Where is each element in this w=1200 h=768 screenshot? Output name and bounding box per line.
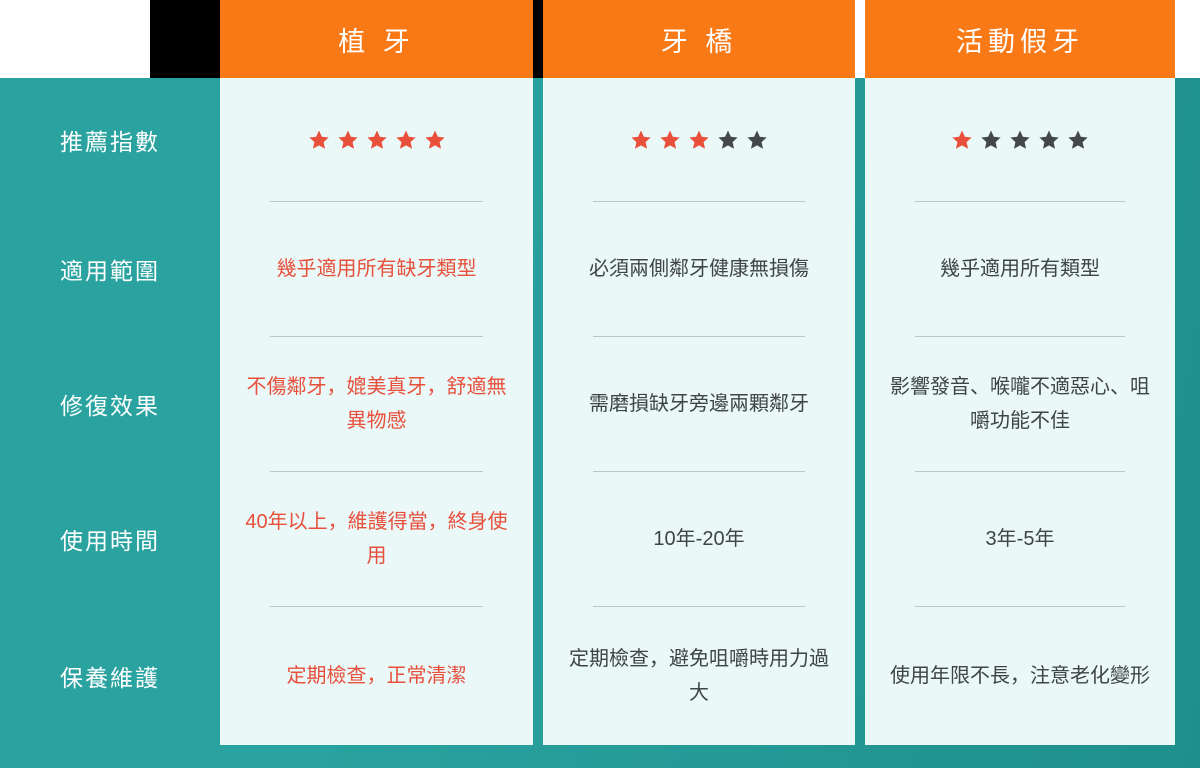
cell-r5-c2: 定期檢查，避免咀嚼時用力過大 — [543, 606, 855, 745]
cell-text: 影響發音、喉嚨不適惡心、咀嚼功能不佳 — [883, 370, 1157, 438]
row-label-3: 修復效果 — [0, 336, 220, 471]
cell-separator-c1-1 — [270, 201, 483, 202]
star-icon — [395, 129, 417, 151]
cell-separator-c2-3 — [593, 471, 805, 472]
cell-r2-c3: 幾乎適用所有類型 — [865, 201, 1175, 336]
star-icon — [337, 129, 359, 151]
cell-r4-c1: 40年以上，維護得當，終身使用 — [220, 471, 533, 606]
cell-separator-c1-3 — [270, 471, 483, 472]
cell-separator-c2-1 — [593, 201, 805, 202]
top-left-black-block — [150, 0, 220, 78]
star-icon — [688, 129, 710, 151]
cell-separator-c3-4 — [915, 606, 1125, 607]
cell-r2-c2: 必須兩側鄰牙健康無損傷 — [543, 201, 855, 336]
column-header-2[interactable]: 牙 橋 — [543, 0, 855, 78]
star-icon — [746, 129, 768, 151]
column-cells-2: 必須兩側鄰牙健康無損傷需磨損缺牙旁邊兩顆鄰牙10年-20年定期檢查，避免咀嚼時用… — [543, 78, 855, 745]
cell-r5-c1: 定期檢查，正常清潔 — [220, 606, 533, 745]
top-right-white-block — [1175, 0, 1200, 78]
cell-text: 使用年限不長，注意老化變形 — [890, 659, 1150, 693]
column-cells-1: 幾乎適用所有缺牙類型不傷鄰牙，媲美真牙，舒適無異物感40年以上，維護得當，終身使… — [220, 78, 533, 745]
row-label-4: 使用時間 — [0, 471, 220, 606]
header-divider-1 — [533, 0, 543, 78]
cell-separator-c2-2 — [593, 336, 805, 337]
cell-separator-c3-1 — [915, 201, 1125, 202]
star-icon — [1067, 129, 1089, 151]
row-label-2: 適用範圍 — [0, 201, 220, 336]
cell-text: 定期檢查，避免咀嚼時用力過大 — [561, 642, 837, 710]
cell-r3-c3: 影響發音、喉嚨不適惡心、咀嚼功能不佳 — [865, 336, 1175, 471]
rating-stars — [951, 129, 1089, 151]
star-icon — [1009, 129, 1031, 151]
row-label-sidebar: 推薦指數適用範圍修復效果使用時間保養維護 — [0, 78, 220, 745]
column-cells-3: 幾乎適用所有類型影響發音、喉嚨不適惡心、咀嚼功能不佳3年-5年使用年限不長，注意… — [865, 78, 1175, 745]
cell-text: 3年-5年 — [986, 522, 1055, 556]
cell-separator-c1-2 — [270, 336, 483, 337]
rating-stars — [308, 129, 446, 151]
comparison-table: 植 牙 牙 橋 活動假牙 推薦指數適用範圍修復效果使用時間保養維護 幾乎適用所有… — [0, 0, 1200, 768]
row-label-1: 推薦指數 — [0, 78, 220, 201]
header-divider-2 — [855, 0, 865, 78]
cell-text: 不傷鄰牙，媲美真牙，舒適無異物感 — [238, 370, 515, 438]
star-icon — [1038, 129, 1060, 151]
column-header-3-label: 活動假牙 — [956, 20, 1084, 59]
cell-text: 必須兩側鄰牙健康無損傷 — [589, 252, 809, 286]
row-label-5: 保養維護 — [0, 606, 220, 745]
star-icon — [659, 129, 681, 151]
star-icon — [630, 129, 652, 151]
cell-separator-c2-4 — [593, 606, 805, 607]
cell-text: 幾乎適用所有類型 — [940, 252, 1100, 286]
cell-r4-c2: 10年-20年 — [543, 471, 855, 606]
cell-text: 40年以上，維護得當，終身使用 — [238, 505, 515, 573]
star-icon — [366, 129, 388, 151]
star-icon — [424, 129, 446, 151]
cell-r1-c2 — [543, 78, 855, 201]
cell-r1-c1 — [220, 78, 533, 201]
cell-separator-c3-3 — [915, 471, 1125, 472]
cell-separator-c3-2 — [915, 336, 1125, 337]
column-header-3[interactable]: 活動假牙 — [865, 0, 1175, 78]
cell-separator-c1-4 — [270, 606, 483, 607]
cell-r2-c1: 幾乎適用所有缺牙類型 — [220, 201, 533, 336]
column-header-2-label: 牙 橋 — [661, 20, 738, 59]
column-header-1[interactable]: 植 牙 — [220, 0, 533, 78]
cell-r5-c3: 使用年限不長，注意老化變形 — [865, 606, 1175, 745]
cell-r4-c3: 3年-5年 — [865, 471, 1175, 606]
star-icon — [951, 129, 973, 151]
star-icon — [980, 129, 1002, 151]
top-left-white-block — [0, 0, 150, 78]
column-header-1-label: 植 牙 — [338, 20, 415, 59]
cell-r3-c2: 需磨損缺牙旁邊兩顆鄰牙 — [543, 336, 855, 471]
cell-r1-c3 — [865, 78, 1175, 201]
cell-text: 定期檢查，正常清潔 — [287, 659, 467, 693]
star-icon — [717, 129, 739, 151]
cell-text: 幾乎適用所有缺牙類型 — [277, 252, 477, 286]
star-icon — [308, 129, 330, 151]
rating-stars — [630, 129, 768, 151]
cell-text: 需磨損缺牙旁邊兩顆鄰牙 — [589, 387, 809, 421]
cell-text: 10年-20年 — [653, 522, 744, 556]
cell-r3-c1: 不傷鄰牙，媲美真牙，舒適無異物感 — [220, 336, 533, 471]
